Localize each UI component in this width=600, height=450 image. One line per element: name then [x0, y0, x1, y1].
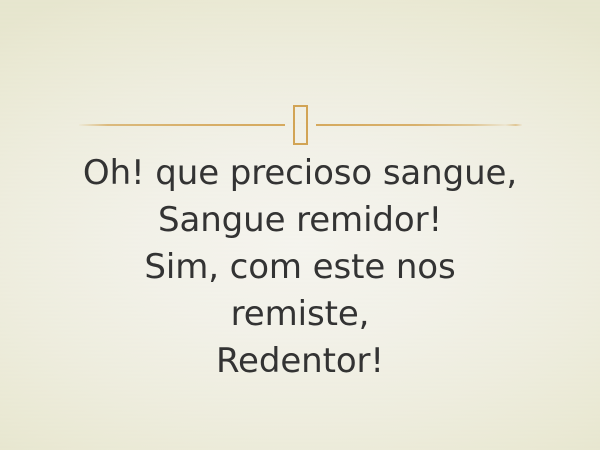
divider-rule-left: [79, 124, 285, 126]
verse-text-block: Oh! que precioso sangue, Sangue remidor!…: [30, 150, 570, 385]
verse-line-1: Oh! que precioso sangue,: [30, 150, 570, 197]
verse-line-5: Redentor!: [30, 338, 570, 385]
ornamental-divider: [0, 104, 600, 146]
verse-line-4: remiste,: [30, 291, 570, 338]
verse-line-2: Sangue remidor!: [30, 197, 570, 244]
divider-rule-right: [316, 124, 522, 126]
presentation-slide: Oh! que precioso sangue, Sangue remidor!…: [0, 0, 600, 450]
rectangle-ornament-icon: [293, 105, 308, 145]
verse-line-3: Sim, com este nos: [30, 244, 570, 291]
